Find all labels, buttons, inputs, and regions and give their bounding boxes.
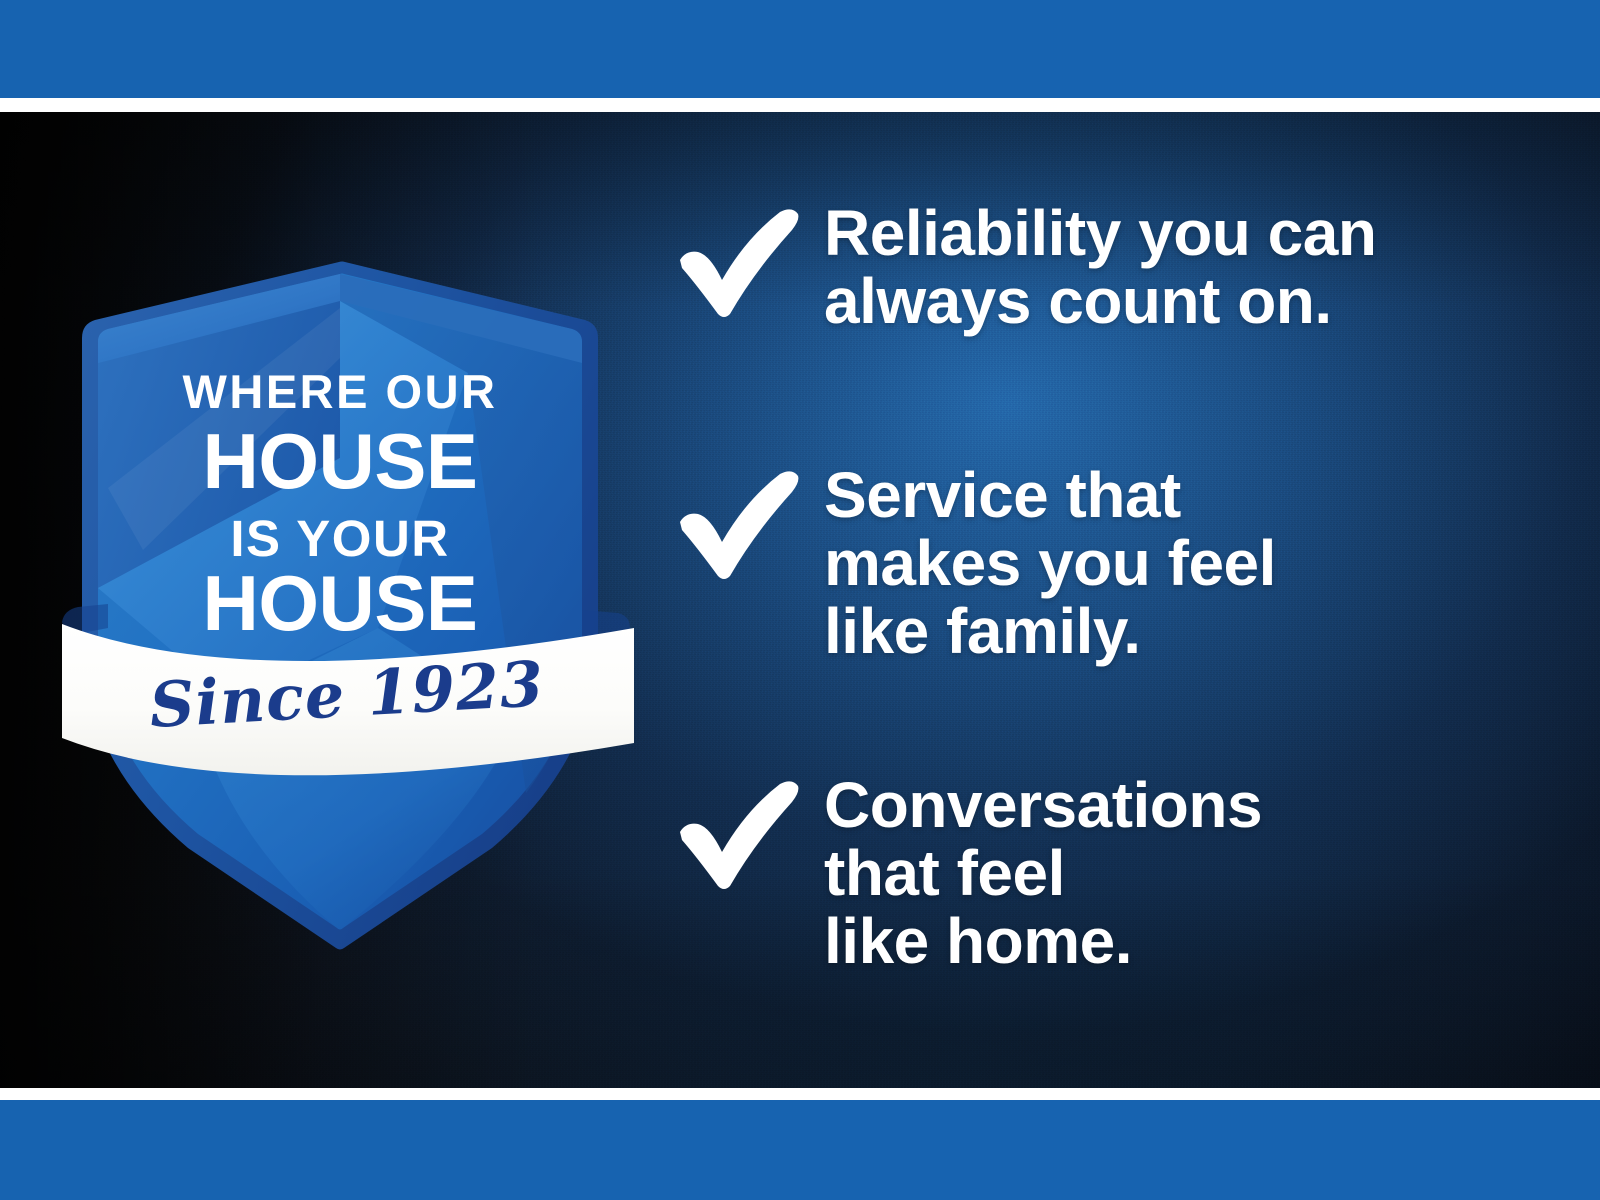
company-shield-logo: WHERE OUR HOUSE IS YOUR HOUSE Since 1923 <box>48 158 648 958</box>
bottom-brand-bar <box>0 1100 1600 1200</box>
benefit-text: Service that makes you feel like family. <box>824 460 1276 665</box>
benefit-item-conversations: Conversations that feel like home. <box>668 770 1548 975</box>
benefit-item-service: Service that makes you feel like family. <box>668 460 1548 665</box>
logo-line-house-1: HOUSE <box>203 417 478 505</box>
check-icon <box>668 464 808 582</box>
benefit-text: Conversations that feel like home. <box>824 770 1262 975</box>
check-icon <box>668 202 808 320</box>
logo-line-house-2: HOUSE <box>203 559 478 647</box>
top-brand-bar <box>0 0 1600 98</box>
check-icon <box>668 774 808 892</box>
benefit-text: Reliability you can always count on. <box>824 198 1376 336</box>
promo-banner: WHERE OUR HOUSE IS YOUR HOUSE Since 1923 <box>0 0 1600 1200</box>
logo-line-where: WHERE OUR <box>183 365 498 418</box>
benefit-item-reliability: Reliability you can always count on. <box>668 198 1548 336</box>
benefits-list: Reliability you can always count on. Ser… <box>668 150 1548 1050</box>
